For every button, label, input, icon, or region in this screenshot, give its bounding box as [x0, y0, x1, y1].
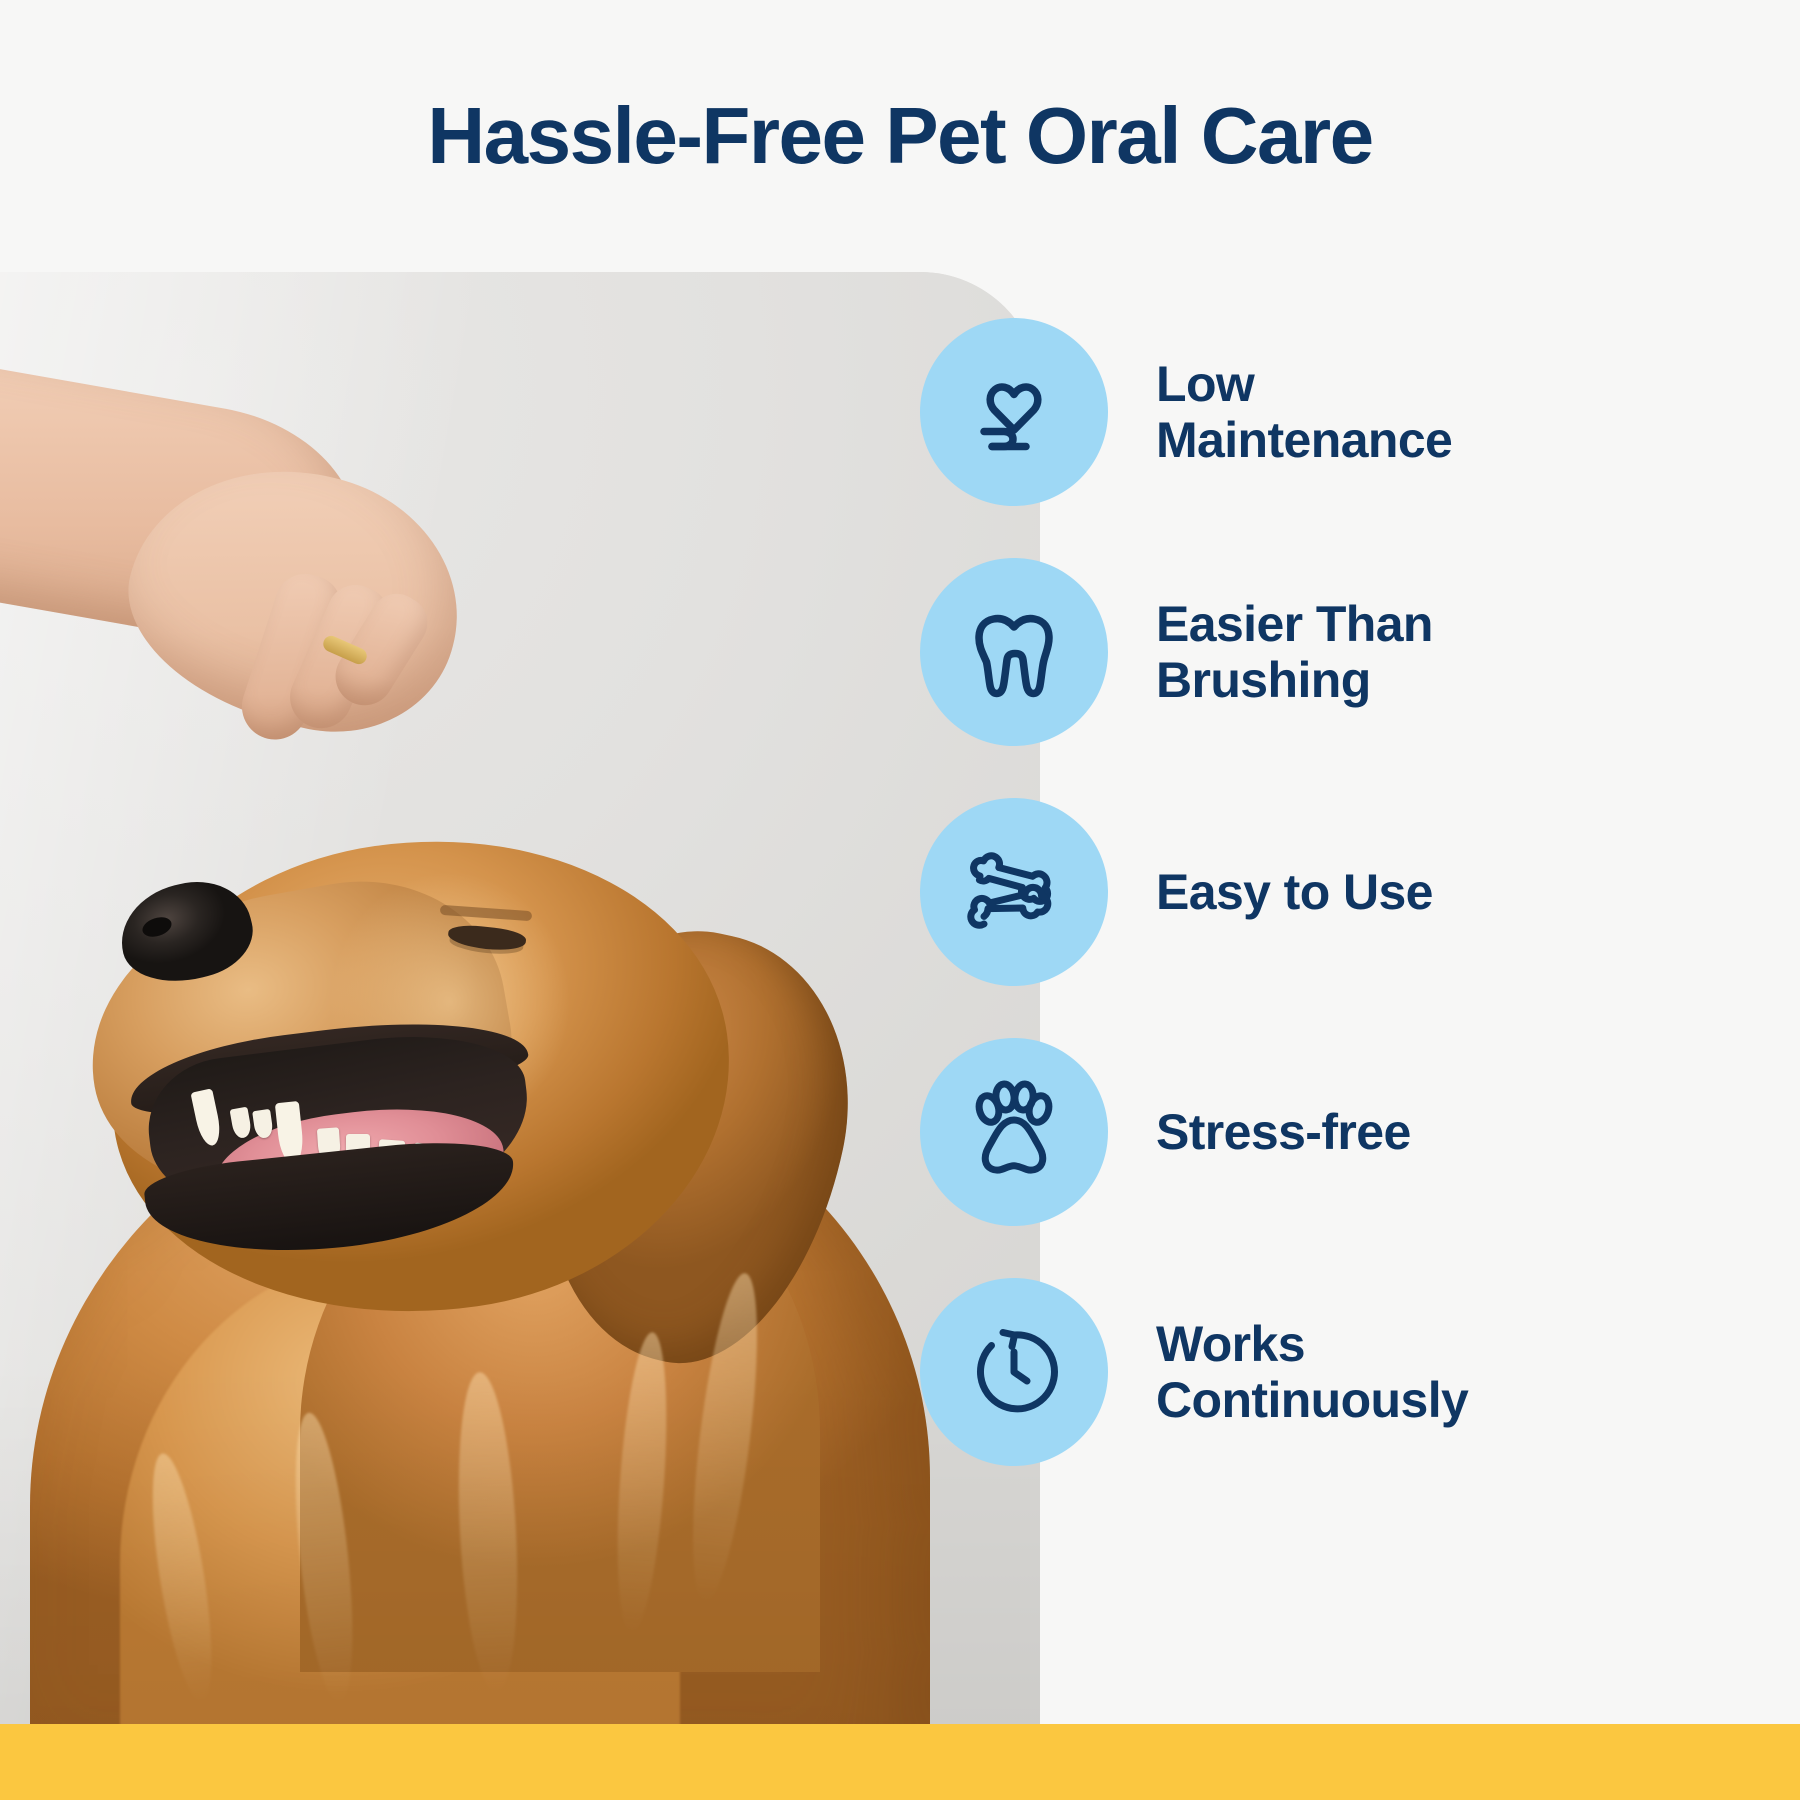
clock-refresh-icon — [962, 1320, 1066, 1424]
bottom-accent-bar — [0, 1724, 1800, 1800]
feature-icon-badge — [920, 798, 1108, 986]
feature-icon-badge — [920, 318, 1108, 506]
page-title: Hassle-Free Pet Oral Care — [427, 90, 1372, 182]
feature-icon-badge — [920, 1278, 1108, 1466]
feature-icon-badge — [920, 558, 1108, 746]
feature-item-works-continuously[interactable]: Works Continuously — [920, 1278, 1468, 1466]
feature-label: Works Continuously — [1156, 1316, 1468, 1428]
feature-item-easier-than-brushing[interactable]: Easier Than Brushing — [920, 558, 1433, 746]
feature-list: Low Maintenance Easier Than Brushing — [920, 300, 1800, 1700]
heart-dog-icon — [962, 360, 1066, 464]
title-bar: Hassle-Free Pet Oral Care — [0, 0, 1800, 272]
feature-label: Stress-free — [1156, 1104, 1411, 1160]
paw-print-icon — [963, 1080, 1065, 1184]
product-photo — [0, 272, 1040, 1724]
feature-item-easy-to-use[interactable]: Easy to Use — [920, 798, 1433, 986]
feature-item-stress-free[interactable]: Stress-free — [920, 1038, 1411, 1226]
feature-icon-badge — [920, 1038, 1108, 1226]
feature-item-low-maintenance[interactable]: Low Maintenance — [920, 318, 1452, 506]
tooth-icon — [964, 600, 1064, 704]
feature-label: Low Maintenance — [1156, 356, 1452, 468]
dog — [0, 272, 1040, 1724]
photo-inner — [0, 272, 1040, 1724]
crossed-bones-icon — [960, 840, 1068, 944]
feature-label: Easier Than Brushing — [1156, 596, 1433, 708]
feature-label: Easy to Use — [1156, 864, 1433, 920]
